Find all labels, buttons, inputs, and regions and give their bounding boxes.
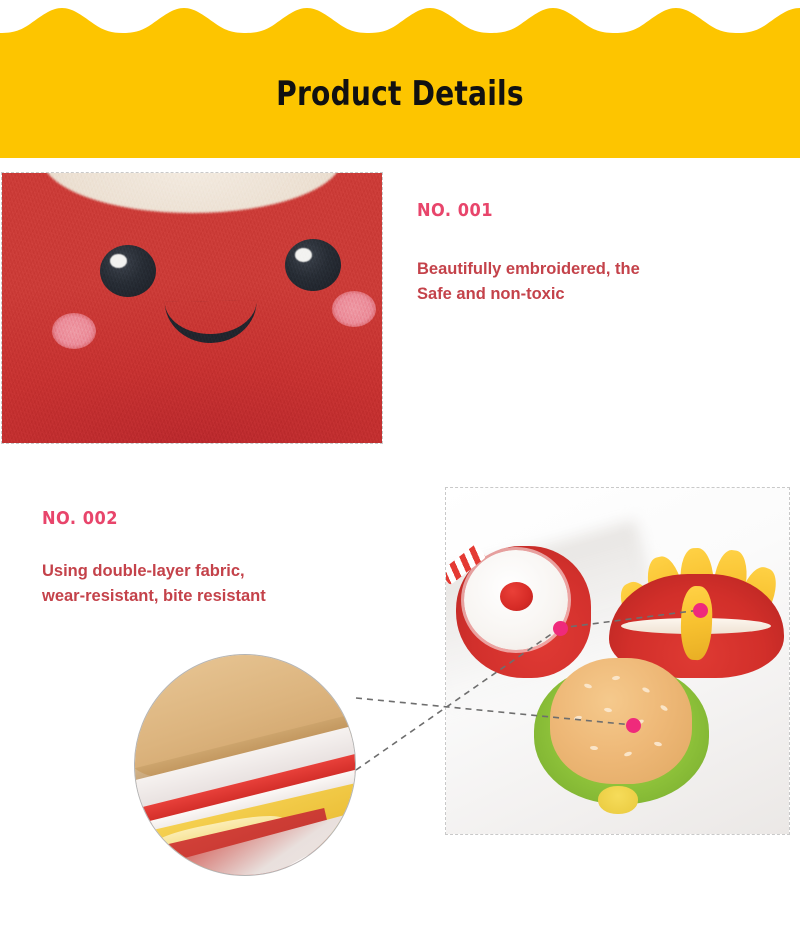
detail-description-001-line2: Safe and non-toxic: [417, 282, 757, 307]
detail-number-001: NO. 001: [417, 200, 757, 221]
burger-bun-top: [550, 658, 692, 784]
product-photo-plush-food-group: [445, 487, 790, 835]
detail-description-002: Using double-layer fabric, wear-resistan…: [42, 559, 402, 609]
bun-seed: [654, 741, 663, 747]
detail-description-001-line1: Beautifully embroidered, the: [417, 257, 757, 282]
plush-burger: [534, 658, 709, 818]
detail-description-001: Beautifully embroidered, the Safe and no…: [417, 257, 757, 307]
burger-cheese-nub: [598, 786, 638, 814]
milkshake-cherry: [500, 582, 533, 611]
product-photo-embroidered-face: [1, 172, 383, 444]
detail-text-block-002: NO. 002 Using double-layer fabric, wear-…: [42, 508, 402, 609]
page-title: Product Details: [32, 74, 768, 114]
bun-seed: [604, 707, 613, 712]
detail-text-block-001: NO. 001 Beautifully embroidered, the Saf…: [417, 200, 757, 307]
bun-seed: [590, 746, 598, 751]
detail-number-002: NO. 002: [42, 508, 402, 529]
marker-dot-milkshake: [553, 621, 568, 636]
bun-seed: [642, 686, 651, 693]
bun-seed: [624, 751, 633, 757]
detail-description-002-line2: wear-resistant, bite resistant: [42, 584, 402, 609]
bun-seed: [584, 683, 593, 689]
plush-fabric-surface: [2, 173, 382, 443]
zoom-inset-fabric-layers: [134, 654, 356, 876]
bun-seed: [612, 675, 620, 680]
detail-description-002-line1: Using double-layer fabric,: [42, 559, 402, 584]
marker-dot-fries: [693, 603, 708, 618]
bun-seed: [660, 704, 669, 712]
marker-dot-burger: [626, 718, 641, 733]
header-banner: Product Details: [0, 0, 800, 158]
bun-seed: [574, 715, 583, 721]
plush-texture-overlay: [2, 173, 382, 443]
product-details-page: Product Details NO. 001 Beautifully embr…: [0, 0, 800, 932]
